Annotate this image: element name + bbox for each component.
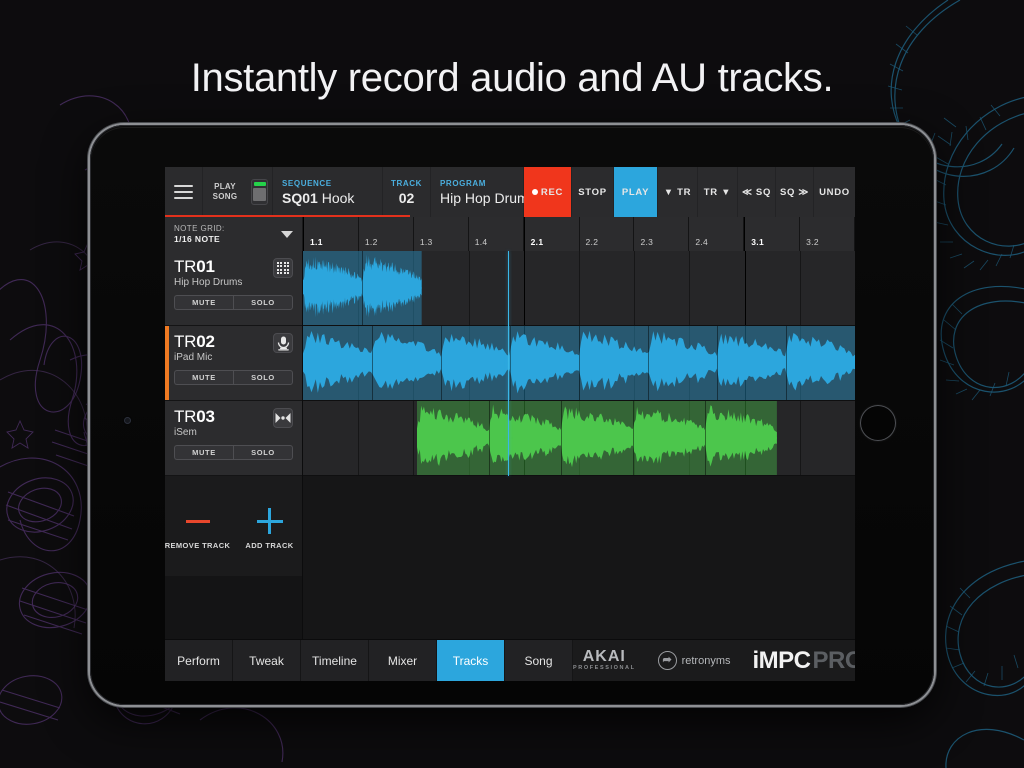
au-plugin-icon xyxy=(275,412,291,424)
track-title-block: TR01Hip Hop Drums xyxy=(174,258,242,289)
clip-segment-divider xyxy=(510,326,511,400)
track-name: TR02 xyxy=(174,333,215,351)
lane-gridline xyxy=(358,401,359,475)
toggle-switch xyxy=(251,179,268,205)
track-prefix: TR xyxy=(174,407,196,426)
track-program-name: iSem xyxy=(174,427,215,439)
track-header-tr03[interactable]: TR03iSemMUTESOLO xyxy=(165,401,302,476)
add-track-button[interactable]: ADD TRACK xyxy=(241,508,299,550)
akai-subtitle: PROFESSIONAL xyxy=(573,666,636,672)
chevron-down-icon[interactable] xyxy=(281,231,293,238)
play-song-line2: SONG xyxy=(213,192,238,202)
track-down-button[interactable]: ▼ TR xyxy=(658,167,698,217)
impc-wordmark: iMPC xyxy=(753,647,811,675)
tab-tweak[interactable]: Tweak xyxy=(233,640,301,681)
track-number: 02 xyxy=(196,332,215,351)
track-title-block: TR03iSem xyxy=(174,408,215,439)
play-song-label: PLAY SONG xyxy=(203,167,247,217)
clip-segment-divider xyxy=(648,326,649,400)
toggle-led xyxy=(254,182,266,186)
sequence-id: SQ01 xyxy=(282,190,318,206)
ruler-bar-1-4[interactable]: 1.4 xyxy=(469,217,524,251)
minus-icon xyxy=(185,508,211,534)
ipad-device: PLAY SONG SEQUENCE SQ01 Hook TRACK 02 xyxy=(90,125,934,705)
bar-ruler[interactable]: 1.11.21.31.42.12.22.32.43.13.2 xyxy=(303,217,855,251)
lane-gridline xyxy=(579,251,580,325)
program-field[interactable]: PROGRAM Hip Hop Drums* xyxy=(431,167,524,217)
track-name: TR01 xyxy=(174,258,242,276)
play-button[interactable]: PLAY xyxy=(614,167,658,217)
audio-clip-tr02[interactable] xyxy=(303,326,855,400)
clip-segment-divider xyxy=(705,401,706,475)
toggle-knob xyxy=(253,188,266,201)
retronyms-logo: ➦ retronyms xyxy=(658,651,731,670)
playhead[interactable] xyxy=(508,251,509,476)
timeline-ruler-row: NOTE GRID: 1/16 NOTE 1.11.21.31.42.12.22… xyxy=(165,217,855,251)
ruler-bar-1-3[interactable]: 1.3 xyxy=(414,217,469,251)
play-song-line1: PLAY xyxy=(214,182,236,192)
note-grid-value: 1/16 NOTE xyxy=(174,234,225,245)
lane-gridline xyxy=(689,251,690,325)
record-dot-icon xyxy=(532,189,538,195)
lane-gridline xyxy=(469,251,470,325)
bottom-tab-bar: PerformTweakTimelineMixerTracksSong AKAI… xyxy=(165,639,855,681)
add-track-label: ADD TRACK xyxy=(245,541,293,550)
track-actions: REMOVE TRACKADD TRACK xyxy=(165,476,302,576)
tab-mixer[interactable]: Mixer xyxy=(369,640,437,681)
clip-segment-divider xyxy=(579,326,580,400)
track-prefix: TR xyxy=(174,332,196,351)
clip-segment-divider xyxy=(633,401,634,475)
track-header-top: TR03iSem xyxy=(174,408,293,439)
sequence-field[interactable]: SEQUENCE SQ01 Hook xyxy=(273,167,383,217)
pad-grid-icon xyxy=(277,262,289,274)
front-camera xyxy=(124,417,131,424)
lane-gridline xyxy=(413,401,414,475)
note-grid-text: NOTE GRID: 1/16 NOTE xyxy=(174,223,225,245)
track-type-icon-wrap[interactable] xyxy=(273,408,293,428)
note-grid-label: NOTE GRID: xyxy=(174,223,225,234)
record-button[interactable]: REC xyxy=(524,167,572,217)
clip-segment-divider xyxy=(362,251,363,325)
audio-clip-tr01[interactable] xyxy=(303,251,422,325)
akai-logo: AKAI PROFESSIONAL xyxy=(573,649,636,672)
audio-clip-tr03[interactable] xyxy=(417,401,777,475)
play-song-toggle[interactable] xyxy=(247,167,273,217)
brand-bar: AKAI PROFESSIONAL ➦ retronyms iMPC PRO xyxy=(573,640,855,681)
mute-button[interactable]: MUTE xyxy=(174,370,233,385)
sequence-label: SEQUENCE xyxy=(282,179,332,189)
tab-song[interactable]: Song xyxy=(505,640,573,681)
timeline-lane-tr03[interactable] xyxy=(303,401,855,476)
sequence-prev-button[interactable]: ≪ SQ xyxy=(738,167,776,217)
undo-button[interactable]: UNDO xyxy=(814,167,855,217)
timeline-lane-tr01[interactable] xyxy=(303,251,855,326)
impc-pro-wordmark: PRO xyxy=(813,647,856,675)
track-field[interactable]: TRACK 02 xyxy=(383,167,431,217)
sequence-value: SQ01 Hook xyxy=(282,191,354,206)
track-prefix: TR xyxy=(174,257,196,276)
track-header-tr01[interactable]: TR01Hip Hop DrumsMUTESOLO xyxy=(165,251,302,326)
lane-gridline xyxy=(634,251,635,325)
remove-track-button[interactable]: REMOVE TRACK xyxy=(169,508,227,550)
track-number: 03 xyxy=(196,407,215,426)
ruler-bar-2-3[interactable]: 2.3 xyxy=(634,217,689,251)
mute-solo-row: MUTESOLO xyxy=(174,445,293,460)
track-header-top: TR01Hip Hop Drums xyxy=(174,258,293,289)
tracks-area: TR01Hip Hop DrumsMUTESOLOTR02iPad MicMUT… xyxy=(165,251,855,639)
remove-track-label: REMOVE TRACK xyxy=(165,541,230,550)
tab-perform[interactable]: Perform xyxy=(165,640,233,681)
akai-wordmark: AKAI xyxy=(583,649,626,665)
clip-segment-divider xyxy=(489,401,490,475)
track-program-name: Hip Hop Drums xyxy=(174,277,242,289)
track-title-block: TR02iPad Mic xyxy=(174,333,215,364)
ruler-bar-1-2[interactable]: 1.2 xyxy=(359,217,414,251)
ruler-bar-2-4[interactable]: 2.4 xyxy=(689,217,744,251)
record-label: REC xyxy=(541,187,563,198)
home-button[interactable] xyxy=(860,405,896,441)
solo-button[interactable]: SOLO xyxy=(233,295,293,310)
sequence-next-button[interactable]: SQ ≫ xyxy=(776,167,814,217)
microphone-icon xyxy=(277,336,290,351)
lane-gridline xyxy=(524,251,525,325)
clip-waveform xyxy=(417,401,777,475)
impc-pro-logo: iMPC PRO xyxy=(753,647,856,675)
ruler-bar-2-1[interactable]: 2.1 xyxy=(524,217,580,251)
lane-gridline xyxy=(745,251,746,325)
track-header-top: TR02iPad Mic xyxy=(174,333,293,364)
tab-tracks[interactable]: Tracks xyxy=(437,640,505,681)
mute-button[interactable]: MUTE xyxy=(174,445,233,460)
ruler-bar-2-2[interactable]: 2.2 xyxy=(580,217,635,251)
track-up-button[interactable]: TR ▼ xyxy=(698,167,738,217)
track-value: 02 xyxy=(399,191,415,206)
track-header-column: TR01Hip Hop DrumsMUTESOLOTR02iPad MicMUT… xyxy=(165,251,303,639)
lane-gridline xyxy=(800,401,801,475)
tab-list: PerformTweakTimelineMixerTracksSong xyxy=(165,640,573,681)
lane-gridline xyxy=(800,251,801,325)
retronyms-wordmark: retronyms xyxy=(682,655,731,667)
track-header-tr02[interactable]: TR02iPad MicMUTESOLO xyxy=(165,326,302,401)
stop-button[interactable]: STOP xyxy=(572,167,614,217)
hamburger-menu-icon[interactable] xyxy=(165,167,203,217)
page-headline: Instantly record audio and AU tracks. xyxy=(0,56,1024,101)
timeline-lanes[interactable] xyxy=(303,251,855,639)
clip-segment-divider xyxy=(717,326,718,400)
program-label: PROGRAM xyxy=(440,179,486,189)
timeline-lane-tr02[interactable] xyxy=(303,326,855,401)
track-name: TR03 xyxy=(174,408,215,426)
tab-timeline[interactable]: Timeline xyxy=(301,640,369,681)
track-number: 01 xyxy=(196,257,215,276)
note-grid-selector[interactable]: NOTE GRID: 1/16 NOTE xyxy=(165,217,303,251)
track-type-icon-wrap[interactable] xyxy=(273,333,293,353)
solo-button[interactable]: SOLO xyxy=(233,370,293,385)
solo-button[interactable]: SOLO xyxy=(233,445,293,460)
clip-segment-divider xyxy=(441,326,442,400)
track-label: TRACK xyxy=(391,179,422,189)
ruler-bar-3-2[interactable]: 3.2 xyxy=(800,217,855,251)
clip-segment-divider xyxy=(372,326,373,400)
sequence-name: Hook xyxy=(322,190,355,206)
mute-solo-row: MUTESOLO xyxy=(174,295,293,310)
retronyms-mark-icon: ➦ xyxy=(658,651,677,670)
ruler-bar-3-1[interactable]: 3.1 xyxy=(744,217,800,251)
top-toolbar: PLAY SONG SEQUENCE SQ01 Hook TRACK 02 xyxy=(165,167,855,217)
ruler-bar-1-1[interactable]: 1.1 xyxy=(303,217,359,251)
track-type-icon-wrap[interactable] xyxy=(273,258,293,278)
mute-button[interactable]: MUTE xyxy=(174,295,233,310)
mute-solo-row: MUTESOLO xyxy=(174,370,293,385)
app-screen: PLAY SONG SEQUENCE SQ01 Hook TRACK 02 xyxy=(165,167,855,681)
track-program-name: iPad Mic xyxy=(174,352,215,364)
plus-icon xyxy=(257,508,283,534)
clip-segment-divider xyxy=(561,401,562,475)
empty-lane-area[interactable] xyxy=(303,476,855,639)
clip-segment-divider xyxy=(786,326,787,400)
